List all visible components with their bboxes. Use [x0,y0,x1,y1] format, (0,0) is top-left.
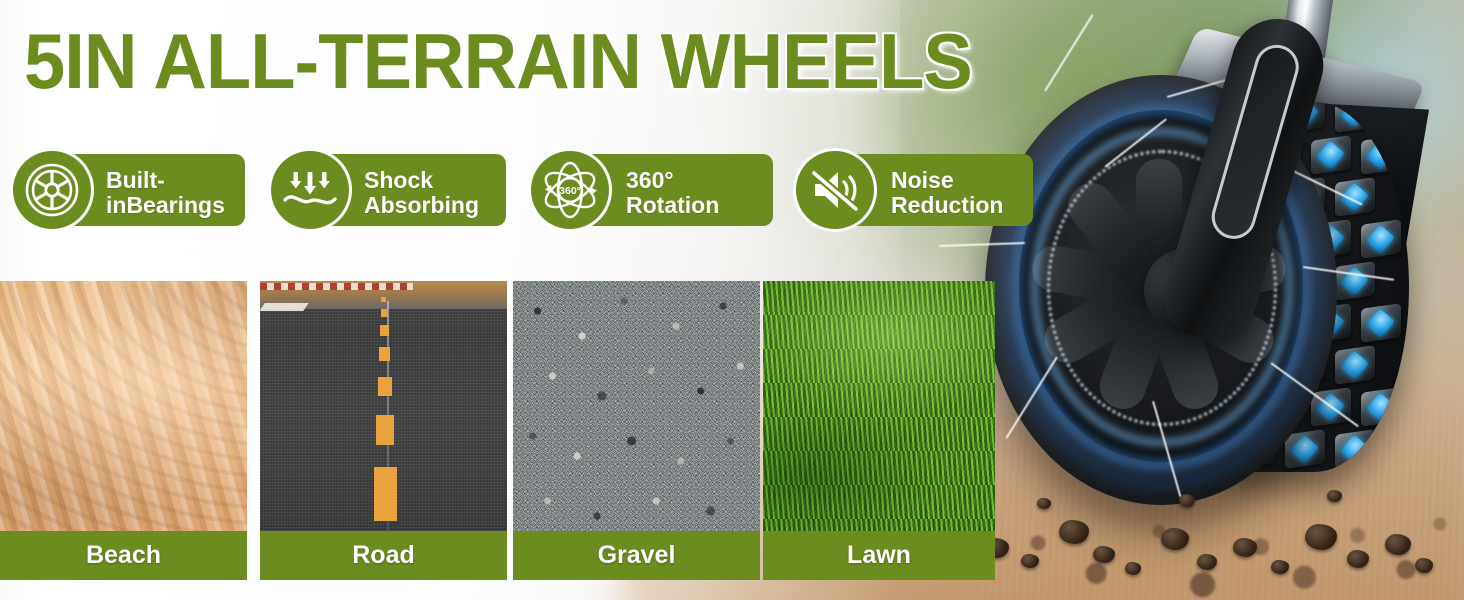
lawn-card[interactable]: Lawn [763,281,995,580]
debris-rock [1305,524,1337,550]
road-dash [378,377,392,396]
feature-badge-360-rotation[interactable]: 360° 360° Rotation [528,148,773,232]
wheel-bearing-icon [10,148,94,232]
feature-badge-shock-absorbing[interactable]: Shock Absorbing [268,148,506,232]
debris-rock [1327,490,1342,502]
debris-rock [1021,554,1039,568]
card-caption: Gravel [513,531,760,580]
gravel-photo [513,281,760,531]
badge-label: Shock Absorbing [364,168,510,218]
card-caption: Beach [0,531,247,580]
badge-label: Noise Reduction [891,168,1039,218]
road-dash [379,347,390,361]
debris-rock [1179,494,1195,507]
road-dash [374,467,397,521]
debris-rock [1161,528,1189,550]
grass-texture [763,281,995,531]
debris-rock [1385,534,1411,555]
road-dash [376,415,394,445]
feature-badge-noise-reduction[interactable]: Noise Reduction [793,148,1033,232]
rotation-360-icon: 360° [528,148,612,232]
debris-rock [1233,538,1257,557]
gravel-card[interactable]: Gravel [513,281,760,580]
debris-rock [1347,550,1369,568]
lawn-photo [763,281,995,531]
dirt-debris [975,450,1445,580]
debris-rock [1059,520,1089,544]
motion-streak [1044,14,1093,91]
product-banner: 5IN ALL-TERRAIN WHEELS [0,0,1464,600]
sand-texture [0,281,247,531]
noise-mute-icon [793,148,877,232]
road-card[interactable]: Road [260,281,507,580]
badge-label: Built- inBearings [106,168,246,218]
debris-rock [1093,546,1115,563]
gravel-texture [513,281,760,531]
beach-card[interactable]: Beach [0,281,247,580]
road-photo [260,281,507,531]
debris-rock [1197,554,1217,570]
debris-rock [1271,560,1289,574]
beach-photo [0,281,247,531]
road-edge-line [260,303,309,311]
road-dash [381,309,388,317]
page-title: 5IN ALL-TERRAIN WHEELS [24,22,972,100]
shock-absorb-icon [268,148,352,232]
card-caption: Road [260,531,507,580]
road-dash [381,297,386,302]
feature-badge-built-in-bearings[interactable]: Built- inBearings [10,148,245,232]
debris-rock [1415,558,1433,573]
rotation-icon-text: 360° [559,185,581,197]
road-dash [380,325,389,336]
feature-badge-row: Built- inBearings Shock Absorbing [0,148,1030,238]
wheel-assembly [985,70,1385,510]
debris-rock [1125,562,1141,575]
grass-highlight [763,281,995,531]
all-terrain-wheel-photo [965,0,1464,600]
debris-rock [1037,498,1051,509]
asphalt-texture [260,281,507,531]
badge-label: 360° Rotation [626,168,776,218]
card-caption: Lawn [763,531,995,580]
